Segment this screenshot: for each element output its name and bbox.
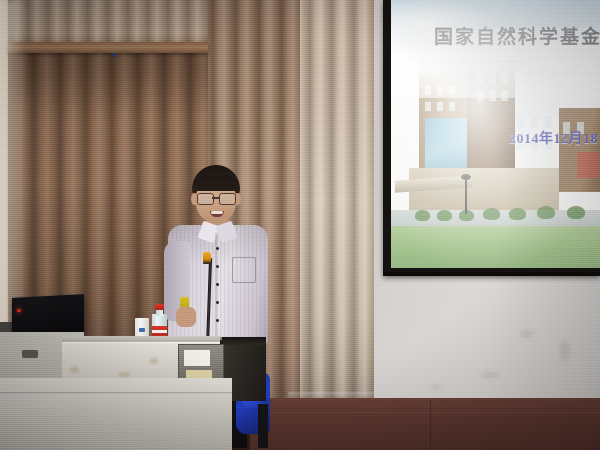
microphone-head[interactable]: [203, 252, 211, 264]
lectern-stain: [70, 366, 79, 373]
shirt-button: [216, 265, 219, 268]
wall-smudge: [560, 340, 570, 362]
curtain-hook-icon: [112, 53, 116, 57]
slide-title: 国家自然科学基金: [434, 22, 600, 49]
water-bottle-cap[interactable]: [155, 304, 164, 310]
building-block-red: [577, 152, 599, 178]
slide-lawn: [391, 226, 600, 268]
shirt-button: [216, 283, 219, 286]
water-bottle-label-stripe: [152, 330, 167, 333]
building-base-floor: [409, 168, 559, 214]
lectern-base-seam: [0, 392, 232, 395]
laptop-power-led-icon: [17, 309, 21, 312]
curtain-right: [288, 0, 374, 405]
building-window: [425, 102, 431, 111]
slide-shrub: [415, 210, 430, 221]
photo-scene: 国家自然科学基金 2014年12月18日: [0, 0, 600, 450]
slide-shrub: [509, 208, 526, 220]
building-window: [449, 102, 455, 111]
wall-smudge: [480, 372, 500, 378]
slide-date: 2014年12月18日: [509, 128, 600, 148]
slide-lamp-post: [465, 178, 467, 214]
curtain-valance-hem: [8, 42, 208, 53]
paper-cup-logo: [139, 328, 145, 332]
curtain-valance: [8, 0, 208, 48]
chair-post: [258, 404, 268, 448]
building-window: [545, 116, 552, 128]
slide-shrub: [567, 206, 585, 219]
floor-seam: [430, 400, 431, 450]
shirt-button: [216, 319, 219, 322]
lectern-stain: [150, 358, 158, 364]
wall-smudge: [430, 385, 442, 390]
presenter-hair-front: [193, 175, 239, 191]
glasses-bridge: [212, 197, 219, 199]
floor-seam: [250, 412, 600, 413]
shirt-button: [216, 301, 219, 304]
desk-notch: [22, 350, 38, 358]
slide-lamp-head: [461, 174, 471, 180]
building-window: [531, 116, 538, 128]
lectern-base: [0, 378, 232, 450]
slide-shrub: [483, 208, 500, 220]
glasses-lens-left: [197, 193, 214, 205]
projection-screen: 国家自然科学基金 2014年12月18日: [391, 0, 600, 268]
lectern-stain: [118, 372, 130, 377]
slide-shrub: [537, 206, 555, 219]
building-window: [437, 102, 443, 111]
presenter-hand: [176, 307, 196, 327]
glasses-lens-right: [219, 193, 236, 205]
window-glow: [0, 0, 26, 330]
shirt-pocket: [232, 257, 256, 283]
building-block-d: [559, 108, 600, 192]
presenter-teeth: [211, 211, 223, 214]
shirt-button: [216, 247, 219, 250]
lectern-papers[interactable]: [184, 350, 210, 366]
projection-screen-bottom-bar: [383, 272, 600, 276]
slide-shrub: [437, 210, 452, 221]
building-window: [517, 116, 524, 128]
wall-smudge: [520, 330, 534, 338]
